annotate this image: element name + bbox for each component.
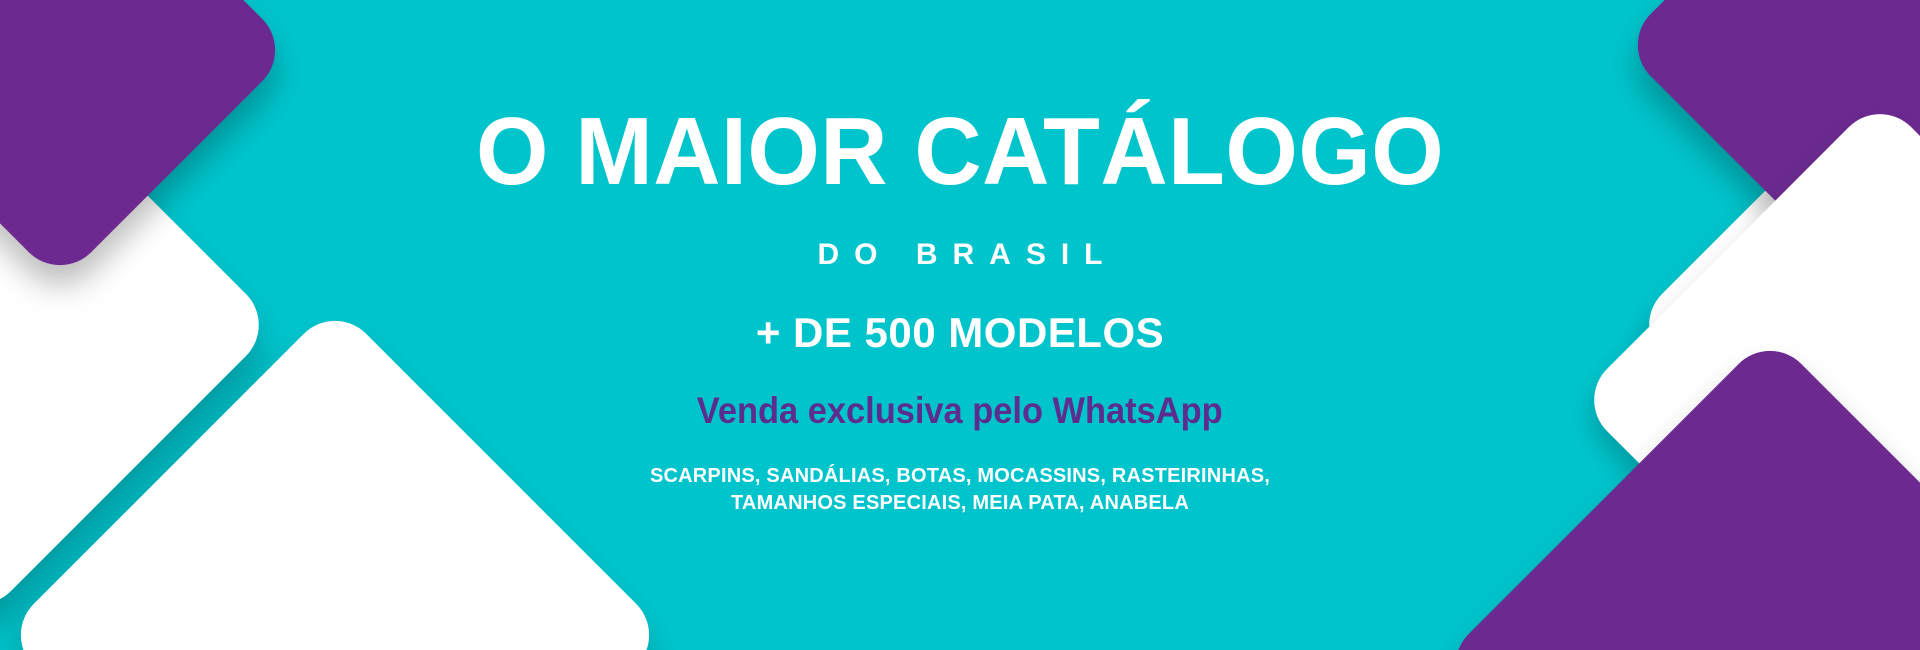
product-category-line: SCARPINS, SANDÁLIAS, BOTAS, MOCASSINS, R… <box>650 463 1270 490</box>
banner-headline: O MAIOR CATÁLOGO <box>476 104 1444 200</box>
product-category-list: SCARPINS, SANDÁLIAS, BOTAS, MOCASSINS, R… <box>650 463 1270 517</box>
banner-models-count: + DE 500 MODELOS <box>756 312 1164 354</box>
banner-whatsapp-note: Venda exclusiva pelo WhatsApp <box>697 392 1223 429</box>
product-category-line: TAMANHOS ESPECIAIS, MEIA PATA, ANABELA <box>650 490 1270 517</box>
promo-banner: O MAIOR CATÁLOGO DO BRASIL + DE 500 MODE… <box>0 0 1920 650</box>
banner-subheadline: DO BRASIL <box>803 240 1118 270</box>
